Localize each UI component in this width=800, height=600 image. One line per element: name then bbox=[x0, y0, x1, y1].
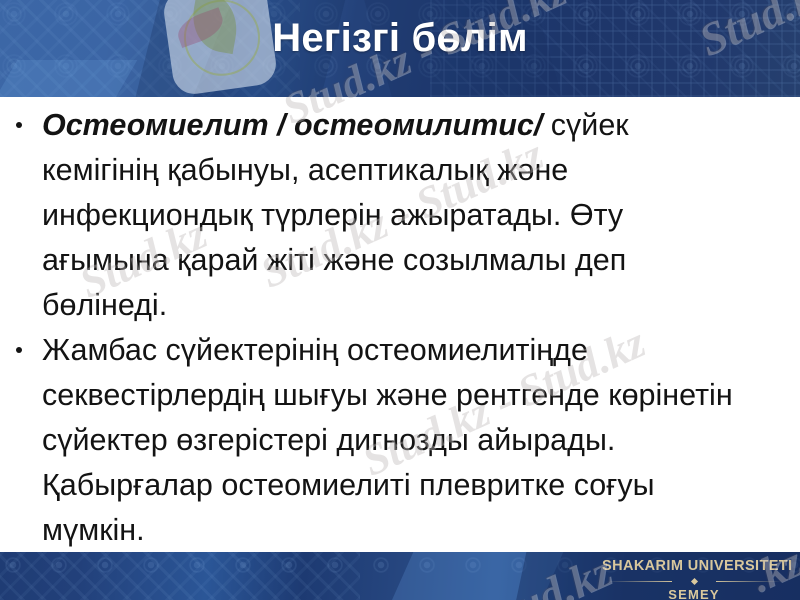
slide-body: Остеомиелит / остеомилитис/ сүйек кемігі… bbox=[0, 97, 800, 552]
brand-name: SHAKARIM UNIVERSITETI bbox=[602, 557, 786, 575]
page-title: Негізгі бөлім bbox=[0, 16, 800, 61]
slide-footer-banner: SHAKARIM UNIVERSITETI SEMEY bbox=[0, 552, 800, 600]
bullet-marker-icon bbox=[16, 347, 22, 353]
bullet-text: Жамбас сүйектерінің остеомиелитіңде секв… bbox=[42, 333, 733, 547]
university-brand: SHAKARIM UNIVERSITETI SEMEY bbox=[602, 557, 786, 600]
bullet-emphasis-term: Остеомиелит / остеомилитис/ bbox=[42, 108, 542, 142]
header-facet-accent bbox=[0, 60, 137, 97]
brand-city: SEMEY bbox=[602, 587, 786, 600]
diamond-icon bbox=[690, 578, 697, 585]
slide-header-banner: Негізгі бөлім bbox=[0, 0, 800, 97]
footer-ornament-diamonds bbox=[0, 552, 360, 600]
bullet-list: Остеомиелит / остеомилитис/ сүйек кемігі… bbox=[8, 103, 738, 553]
list-item: Жамбас сүйектерінің остеомиелитіңде секв… bbox=[8, 328, 738, 553]
bullet-marker-icon bbox=[16, 122, 22, 128]
list-item: Остеомиелит / остеомилитис/ сүйек кемігі… bbox=[8, 103, 738, 328]
slide: Негізгі бөлім Остеомиелит / остеомилитис… bbox=[0, 0, 800, 600]
brand-divider bbox=[602, 576, 786, 587]
